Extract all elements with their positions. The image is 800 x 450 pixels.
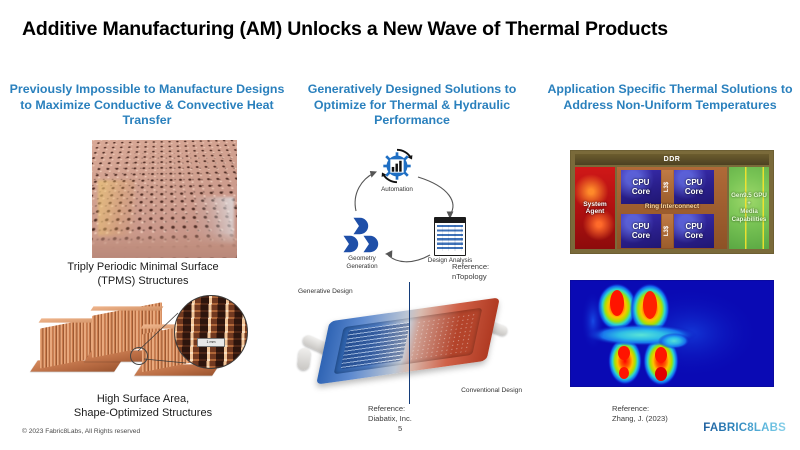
tpms-caption-line-1: Triply Periodic Minimal Surface (8, 260, 278, 274)
gpu-label-line-2: + (729, 200, 769, 208)
tpms-caption: Triply Periodic Minimal Surface (TPMS) S… (8, 260, 278, 288)
geometry-generation-label: Geometry Generation (334, 255, 390, 271)
ntopology-reference-line-2: nTopology (452, 272, 489, 282)
system-agent-label-line-1: System (583, 201, 606, 208)
l3-cache-1-label: L3$ (665, 182, 671, 192)
cpu-core-1-line-1: CPU (632, 178, 650, 188)
cpu-core-4-line-1: CPU (685, 222, 703, 232)
spreadsheet-icon (434, 217, 466, 256)
cpu-core-2-line-1: CPU (685, 178, 703, 188)
l3-cache-2: L3$ (662, 214, 673, 248)
ddr-region-label: DDR (575, 154, 769, 165)
cpu-core-3: CPU Core (621, 214, 661, 248)
page-title: Additive Manufacturing (AM) Unlocks a Ne… (22, 18, 668, 41)
spreadsheet-header-bar (435, 218, 465, 223)
callout-source-circle (130, 347, 148, 365)
ntopology-reference: Reference: nTopology (452, 262, 489, 282)
column-1: Previously Impossible to Manufacture Des… (8, 82, 286, 129)
diabatix-reference-line-1: Reference: (368, 404, 412, 414)
cpu-core-1-line-2: Core (632, 187, 650, 197)
cpu-core-4: CPU Core (674, 214, 714, 248)
geometry-generation-label-line-2: Generation (334, 263, 390, 271)
conventional-design-label: Conventional Design (461, 387, 522, 394)
zhang-reference: Reference: Zhang, J. (2023) (612, 404, 668, 424)
cold-plate-comparison-render: Generative Design Conventional Design (296, 288, 522, 400)
fabric8labs-logo: FABRIC8LABS (703, 422, 786, 434)
generative-flow-channels (340, 322, 409, 370)
cpu-core-4-line-2: Core (685, 231, 703, 241)
ring-interconnect-label: Ring Interconnect (617, 201, 727, 213)
spreadsheet-rows (437, 225, 463, 251)
magnified-fin-callout: 1 mm (174, 295, 248, 369)
generative-design-label: Generative Design (298, 288, 353, 295)
diabatix-reference: Reference: Diabatix, Inc. (368, 404, 412, 424)
zhang-reference-line-1: Reference: (612, 404, 668, 414)
scale-bar: 1 mm (197, 338, 225, 347)
copyright-notice: © 2023 Fabric8Labs, All Rights reserved (22, 428, 140, 435)
heatsink-caption-line-2: Shape-Optimized Structures (8, 406, 278, 420)
l3-cache-2-label: L3$ (665, 226, 671, 236)
diabatix-reference-line-2: Diabatix, Inc. (368, 414, 412, 424)
gpu-region: Gen9.5 GPU + Media Capabilities (729, 167, 769, 249)
column-1-heading: Previously Impossible to Manufacture Des… (8, 82, 286, 129)
tpms-lattice-photo (92, 140, 237, 258)
zhang-reference-line-2: Zhang, J. (2023) (612, 414, 668, 424)
column-3-heading: Application Specific Thermal Solutions t… (546, 82, 794, 113)
coolant-port-inlet-tube (297, 347, 311, 370)
system-agent-region: System Agent (575, 167, 615, 249)
tpms-base-plate (92, 234, 237, 258)
l3-cache-1: L3$ (662, 170, 673, 204)
gear-chart-icon (378, 147, 416, 185)
gpu-label-line-1: Gen9.5 GPU (729, 192, 769, 200)
cpu-core-3-line-1: CPU (632, 222, 650, 232)
system-agent-label-line-2: Agent (583, 208, 606, 215)
ntopology-reference-line-1: Reference: (452, 262, 489, 272)
column-2-heading: Generatively Designed Solutions to Optim… (288, 82, 536, 129)
design-split-divider (409, 282, 410, 404)
column-3: Application Specific Thermal Solutions t… (546, 82, 794, 113)
cpu-core-2-line-2: Core (685, 187, 703, 197)
page-number: 5 (398, 424, 402, 433)
tpms-gold-edge (98, 180, 136, 237)
cpu-core-1: CPU Core (621, 170, 661, 204)
geometry-generation-label-line-1: Geometry (334, 255, 390, 263)
cold-plate-body (316, 297, 500, 384)
geometry-shapes-icon (338, 215, 384, 255)
gpu-label-line-3: Media Capabilities (729, 208, 769, 224)
generative-design-cycle-diagram: Automation Design Analysis Geometry Gene… (300, 145, 520, 280)
cold-plate-cavity (334, 308, 483, 375)
cpu-core-3-line-2: Core (632, 231, 650, 241)
copper-heatsink-photo: 1 mm (26, 295, 276, 393)
cpu-core-2: CPU Core (674, 170, 714, 204)
cpu-die-floorplan: DDR System Agent CPU Core L3$ CPU Core R… (570, 150, 774, 254)
conventional-pin-fins (409, 313, 476, 360)
heatsink-top-center (91, 306, 164, 310)
cpu-thermal-heatmap (570, 280, 774, 387)
heatsink-caption-line-1: High Surface Area, (8, 392, 278, 406)
column-2: Generatively Designed Solutions to Optim… (288, 82, 536, 129)
tpms-caption-line-2: (TPMS) Structures (8, 274, 278, 288)
callout-wave-texture (174, 295, 248, 369)
automation-label: Automation (370, 186, 424, 194)
heatsink-caption: High Surface Area, Shape-Optimized Struc… (8, 392, 278, 420)
thermal-contours (571, 281, 773, 386)
